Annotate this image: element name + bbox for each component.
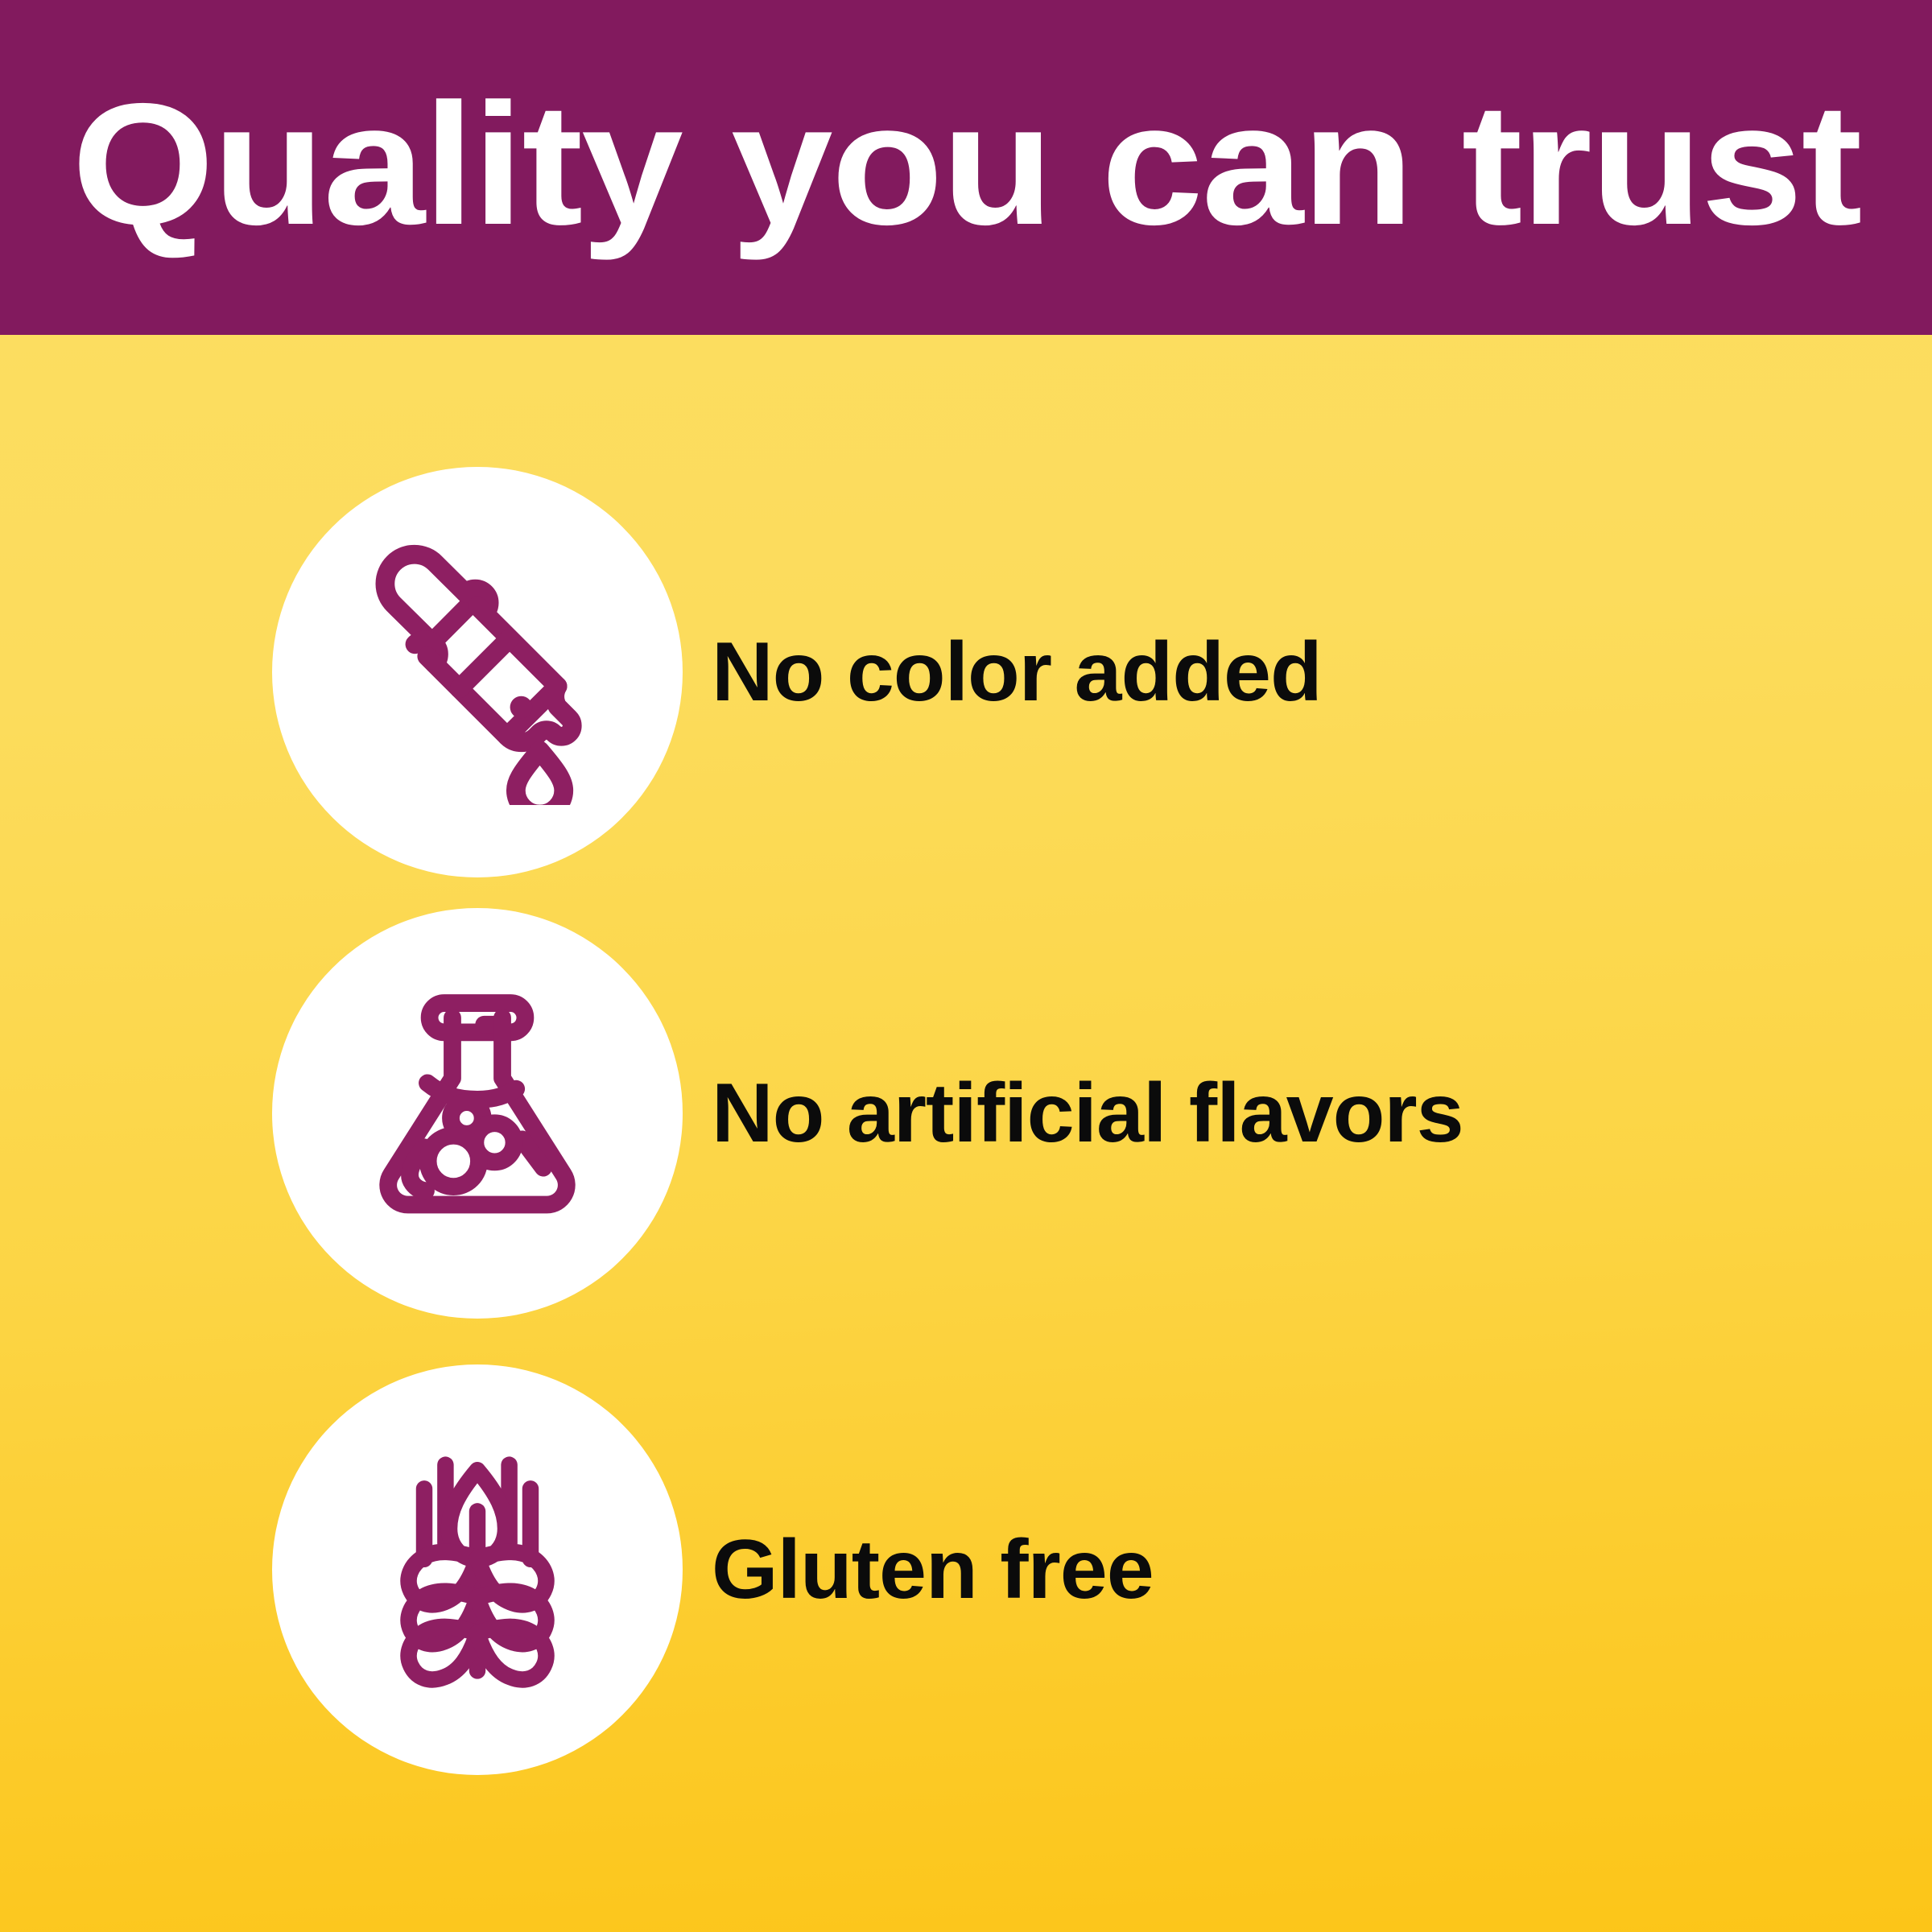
flask-icon	[345, 980, 610, 1246]
header-band: Quality you can trust	[0, 0, 1932, 335]
wheat-icon	[345, 1437, 610, 1703]
feature-label: No artificial flavors	[712, 1071, 1463, 1155]
icon-badge	[272, 908, 683, 1319]
feature-list: No color added	[0, 335, 1932, 1932]
icon-badge	[272, 467, 683, 877]
icon-badge	[272, 1364, 683, 1775]
feature-label: No color added	[712, 630, 1322, 714]
feature-row: Gluten free	[0, 1364, 1932, 1775]
feature-label: Gluten free	[712, 1528, 1154, 1612]
feature-row: No color added	[0, 467, 1932, 877]
flask-bubble-large	[428, 1136, 479, 1187]
dropper-drop	[516, 750, 563, 805]
quality-you-can-trust-graphic: Quality you can trust	[0, 0, 1932, 1932]
feature-row: No artificial flavors	[0, 908, 1932, 1319]
page-title: Quality you can trust	[72, 77, 1860, 250]
dropper-tip-dot	[510, 696, 533, 719]
dropper-icon	[345, 539, 610, 805]
